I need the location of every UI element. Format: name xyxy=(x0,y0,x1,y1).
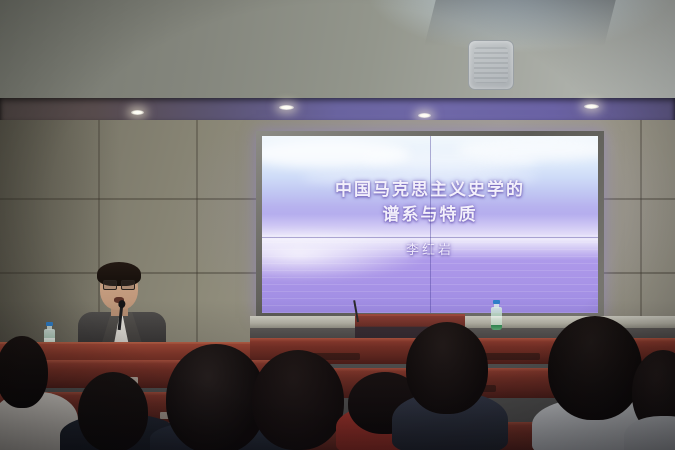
ceiling xyxy=(0,0,675,100)
attendee-curly-center-head xyxy=(252,350,344,450)
downlight-icon-1 xyxy=(131,110,144,115)
projection-screen: 中国马克思主义史学的 谱系与特质 李红岩 xyxy=(256,131,604,318)
attendee-ponytail-center-head xyxy=(166,344,266,450)
water-bottle-stage-ledge xyxy=(491,300,502,330)
attendee-white-top-left-head xyxy=(0,336,48,408)
videowall-seam-vertical xyxy=(430,136,431,313)
attendee-white-blouse-head xyxy=(548,316,642,420)
attendee-center-left-head xyxy=(78,372,148,450)
downlight-icon-4 xyxy=(584,104,599,109)
ceiling-shadow xyxy=(424,0,615,46)
videowall-seam-horizontal xyxy=(262,237,598,238)
attendee-center-right-head xyxy=(406,322,488,414)
ceiling-speaker-panel-icon xyxy=(468,40,514,90)
glasses-icon xyxy=(103,280,135,288)
lecture-hall-photo: 中国马克思主义史学的 谱系与特质 李红岩 xyxy=(0,0,675,450)
downlight-icon-3 xyxy=(418,113,431,118)
screen-surface: 中国马克思主义史学的 谱系与特质 李红岩 xyxy=(262,136,598,313)
downlight-icon-2 xyxy=(279,105,294,110)
